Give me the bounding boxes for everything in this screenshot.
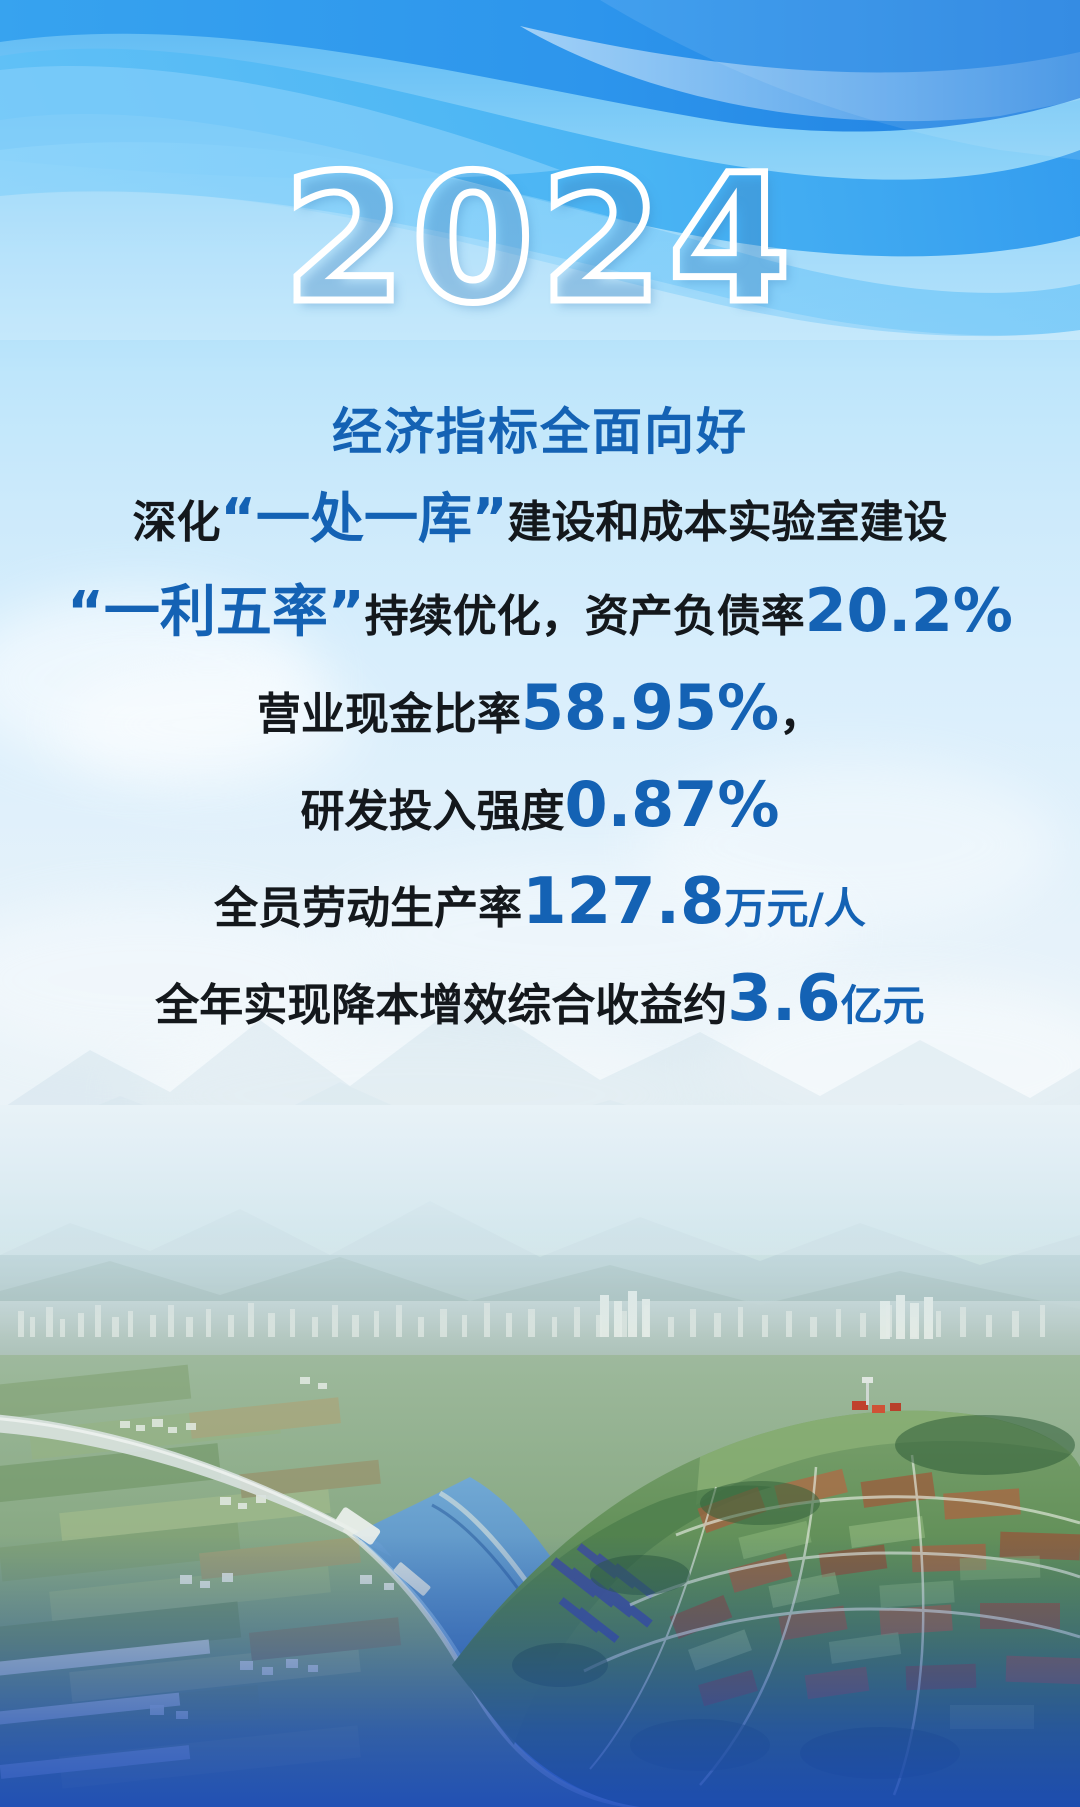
line3-label: 持续优化，资产负债率 <box>365 591 805 642</box>
line3-value: 20.2% <box>805 576 1013 646</box>
line2-suffix: 建设和成本实验室建设 <box>508 497 948 548</box>
line7-value: 3.6 <box>727 962 840 1036</box>
line6-label: 全员劳动生产率 <box>214 883 522 934</box>
line7-unit: 亿元 <box>841 981 925 1030</box>
line2-quote-open: “ <box>221 487 257 550</box>
line6-value: 127.8 <box>522 865 724 939</box>
stat-line-cash-ratio: 营业现金比率58.95%， <box>0 663 1080 760</box>
poster-root: 2024 经济指标全面向好 深化“一处一库”建设和成本实验室建设 “一利五率”持… <box>0 0 1080 1807</box>
line3-quote-close: ” <box>328 580 365 645</box>
stat-line-debt-ratio: “一利五率”持续优化，资产负债率20.2% <box>0 565 1080 663</box>
line6-unit: 万元/人 <box>725 884 866 933</box>
stat-line-construction: 深化“一处一库”建设和成本实验室建设 <box>0 477 1080 565</box>
line7-label: 全年实现降本增效综合收益约 <box>155 980 727 1031</box>
stat-line-cost-savings: 全年实现降本增效综合收益约3.6亿元 <box>0 954 1080 1051</box>
line4-value: 58.95% <box>521 671 779 744</box>
line2-prefix: 深化 <box>133 497 221 548</box>
line3-quote-open: “ <box>67 580 104 645</box>
year-headline: 2024 <box>0 150 1080 330</box>
stat-line-labor-productivity: 全员劳动生产率127.8万元/人 <box>0 857 1080 954</box>
line5-value: 0.87% <box>564 768 779 841</box>
line5-label: 研发投入强度 <box>300 786 564 837</box>
line3-highlight: 一利五率 <box>104 580 328 645</box>
stat-line-rd-intensity: 研发投入强度0.87% <box>0 760 1080 857</box>
line4-label: 营业现金比率 <box>257 689 521 740</box>
section-title: 经济指标全面向好 <box>0 395 1080 469</box>
line4-tail: ， <box>779 689 823 740</box>
aerial-landscape-photo <box>0 1105 1080 1807</box>
line2-highlight: 一处一库 <box>256 487 472 550</box>
statistics-text-block: 经济指标全面向好 深化“一处一库”建设和成本实验室建设 “一利五率”持续优化，资… <box>0 395 1080 1051</box>
line2-quote-close: ” <box>472 487 508 550</box>
